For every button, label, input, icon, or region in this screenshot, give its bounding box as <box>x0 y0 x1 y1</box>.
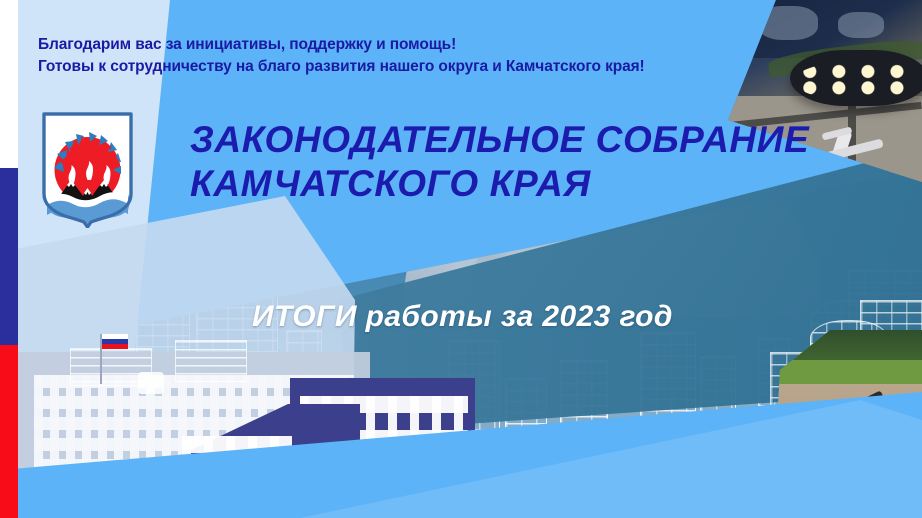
subtitle: ИТОГИ работы за 2023 год <box>252 300 772 334</box>
presentation-slide: Благодарим вас за инициативы, поддержку … <box>0 0 922 518</box>
title-line-1: ЗАКОНОДАТЕЛЬНОЕ СОБРАНИЕ <box>190 118 790 162</box>
kamchatka-coat-of-arms-icon <box>40 110 135 228</box>
title-line-2: КАМЧАТСКОГО КРАЯ <box>190 162 790 206</box>
flag-stripe-white <box>0 0 18 168</box>
flag-stripe-red <box>0 345 18 518</box>
flag-stripe-blue <box>0 168 18 345</box>
russian-flag-stripe <box>0 0 18 518</box>
greeting-text: Благодарим вас за инициативы, поддержку … <box>38 34 758 79</box>
greeting-line-2: Готовы к сотрудничеству на благо развити… <box>38 56 758 78</box>
page-title: ЗАКОНОДАТЕЛЬНОЕ СОБРАНИЕ КАМЧАТСКОГО КРА… <box>190 118 790 205</box>
russian-flag-icon <box>102 334 128 349</box>
greeting-line-1: Благодарим вас за инициативы, поддержку … <box>38 34 758 56</box>
building-crest-icon <box>138 372 164 394</box>
terminal-lights <box>794 62 922 100</box>
